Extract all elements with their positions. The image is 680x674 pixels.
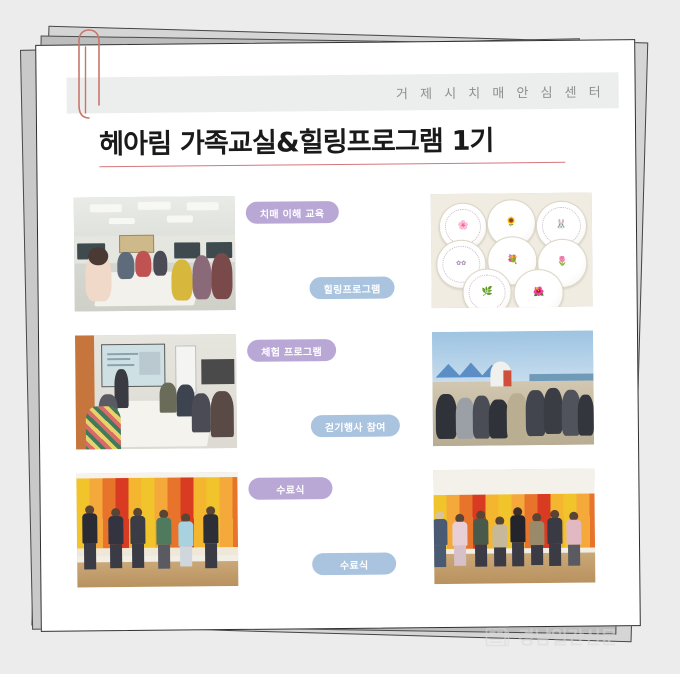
badge-dementia-education: 치매 이해 교육	[246, 201, 339, 224]
content-row: 수료식 수료식	[40, 462, 641, 602]
content-row: 치매 이해 교육 힐링프로그램 🌸 🌻 🐰 ✿✿ 💐	[38, 186, 639, 326]
photo-dementia-education	[74, 196, 236, 312]
photo-experience-program	[75, 334, 237, 450]
poster-card: 거 제 시 치 매 안 심 센 터 헤아림 가족교실&힐링프로그램 1기	[35, 39, 641, 632]
content-row: 체험 프로그램 걷기행사 참여	[39, 324, 640, 464]
watermark-text: 경남일간신문	[518, 624, 617, 650]
page-title: 헤아림 가족교실&힐링프로그램 1기	[99, 123, 619, 162]
screenshot-canvas: 거 제 시 치 매 안 심 센 터 헤아림 가족교실&힐링프로그램 1기	[0, 0, 680, 674]
photo-graduation-group-2	[433, 469, 595, 585]
content-rows: 치매 이해 교육 힐링프로그램 🌸 🌻 🐰 ✿✿ 💐	[38, 186, 641, 606]
newspaper-icon	[484, 624, 510, 650]
header-band: 거 제 시 치 매 안 심 센 터	[67, 72, 619, 113]
badge-graduation-2: 수료식	[312, 552, 396, 575]
badge-walking-event: 걷기행사 참여	[311, 414, 400, 437]
badge-experience-program: 체험 프로그램	[247, 339, 336, 362]
photo-graduation-group-1	[76, 472, 238, 588]
title-underline	[99, 162, 565, 167]
watermark: 경남일간신문	[484, 624, 617, 650]
badge-healing-program: 힐링프로그램	[309, 276, 394, 299]
badge-graduation-1: 수료식	[248, 477, 332, 500]
organization-name: 거 제 시 치 매 안 심 센 터	[396, 81, 605, 102]
title-block: 헤아림 가족교실&힐링프로그램 1기	[99, 123, 619, 167]
photo-walking-event	[432, 331, 594, 447]
photo-healing-plates: 🌸 🌻 🐰 ✿✿ 💐 🌷 🌿	[431, 193, 593, 309]
